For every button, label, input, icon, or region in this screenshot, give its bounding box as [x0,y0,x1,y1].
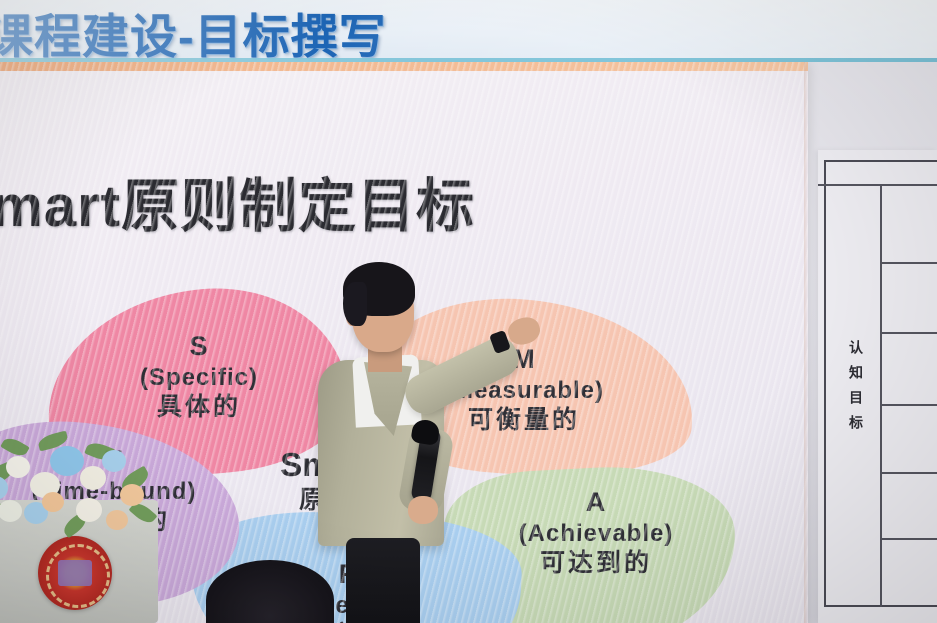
wall-chart-row-divider [818,184,937,186]
presenter-legs [346,538,420,623]
petal-achievable-english: (Achievable) [496,519,696,548]
emblem-core [58,560,92,586]
petal-achievable-text: A (Achievable) 可达到的 [496,486,696,579]
petal-specific-chinese: 具体的 [104,392,294,423]
presenter-sideburn [343,282,367,326]
wall-chart-label: 认知目标 [846,340,866,440]
wall-chart-paper: 认知目标 [818,150,937,623]
petal-achievable-chinese: 可达到的 [496,548,696,579]
petal-specific-english: (Specific) [104,363,294,392]
petal-achievable-letter: A [496,486,696,519]
wall-chart-row-divider [880,538,937,540]
wall-chart-row-divider [880,262,937,264]
slide-title: smart原则制定目标 [0,159,475,243]
banner-title: 课程建设-目标撰写 [0,0,387,62]
wall-chart-column-divider [880,184,882,607]
petal-specific-text: S (Specific) 具体的 [104,330,294,423]
lecture-photo-scene: 认知目标 smart原则制定目标 S (Specific) 具体的 M (Mea… [0,0,937,623]
screen-right-edge [804,62,808,623]
wall-chart-row-divider [880,332,937,334]
flower-arrangement [0,432,170,542]
stage-banner: 课程建设-目标撰写 [0,0,937,62]
banner-underline [0,58,937,62]
wall-chart-row-divider [880,404,937,406]
presenter [312,252,512,623]
presenter-mic-hand [408,496,438,524]
petal-specific-letter: S [104,330,294,363]
screen-accent-bar [0,62,808,71]
wall-chart-row-divider [880,472,937,474]
